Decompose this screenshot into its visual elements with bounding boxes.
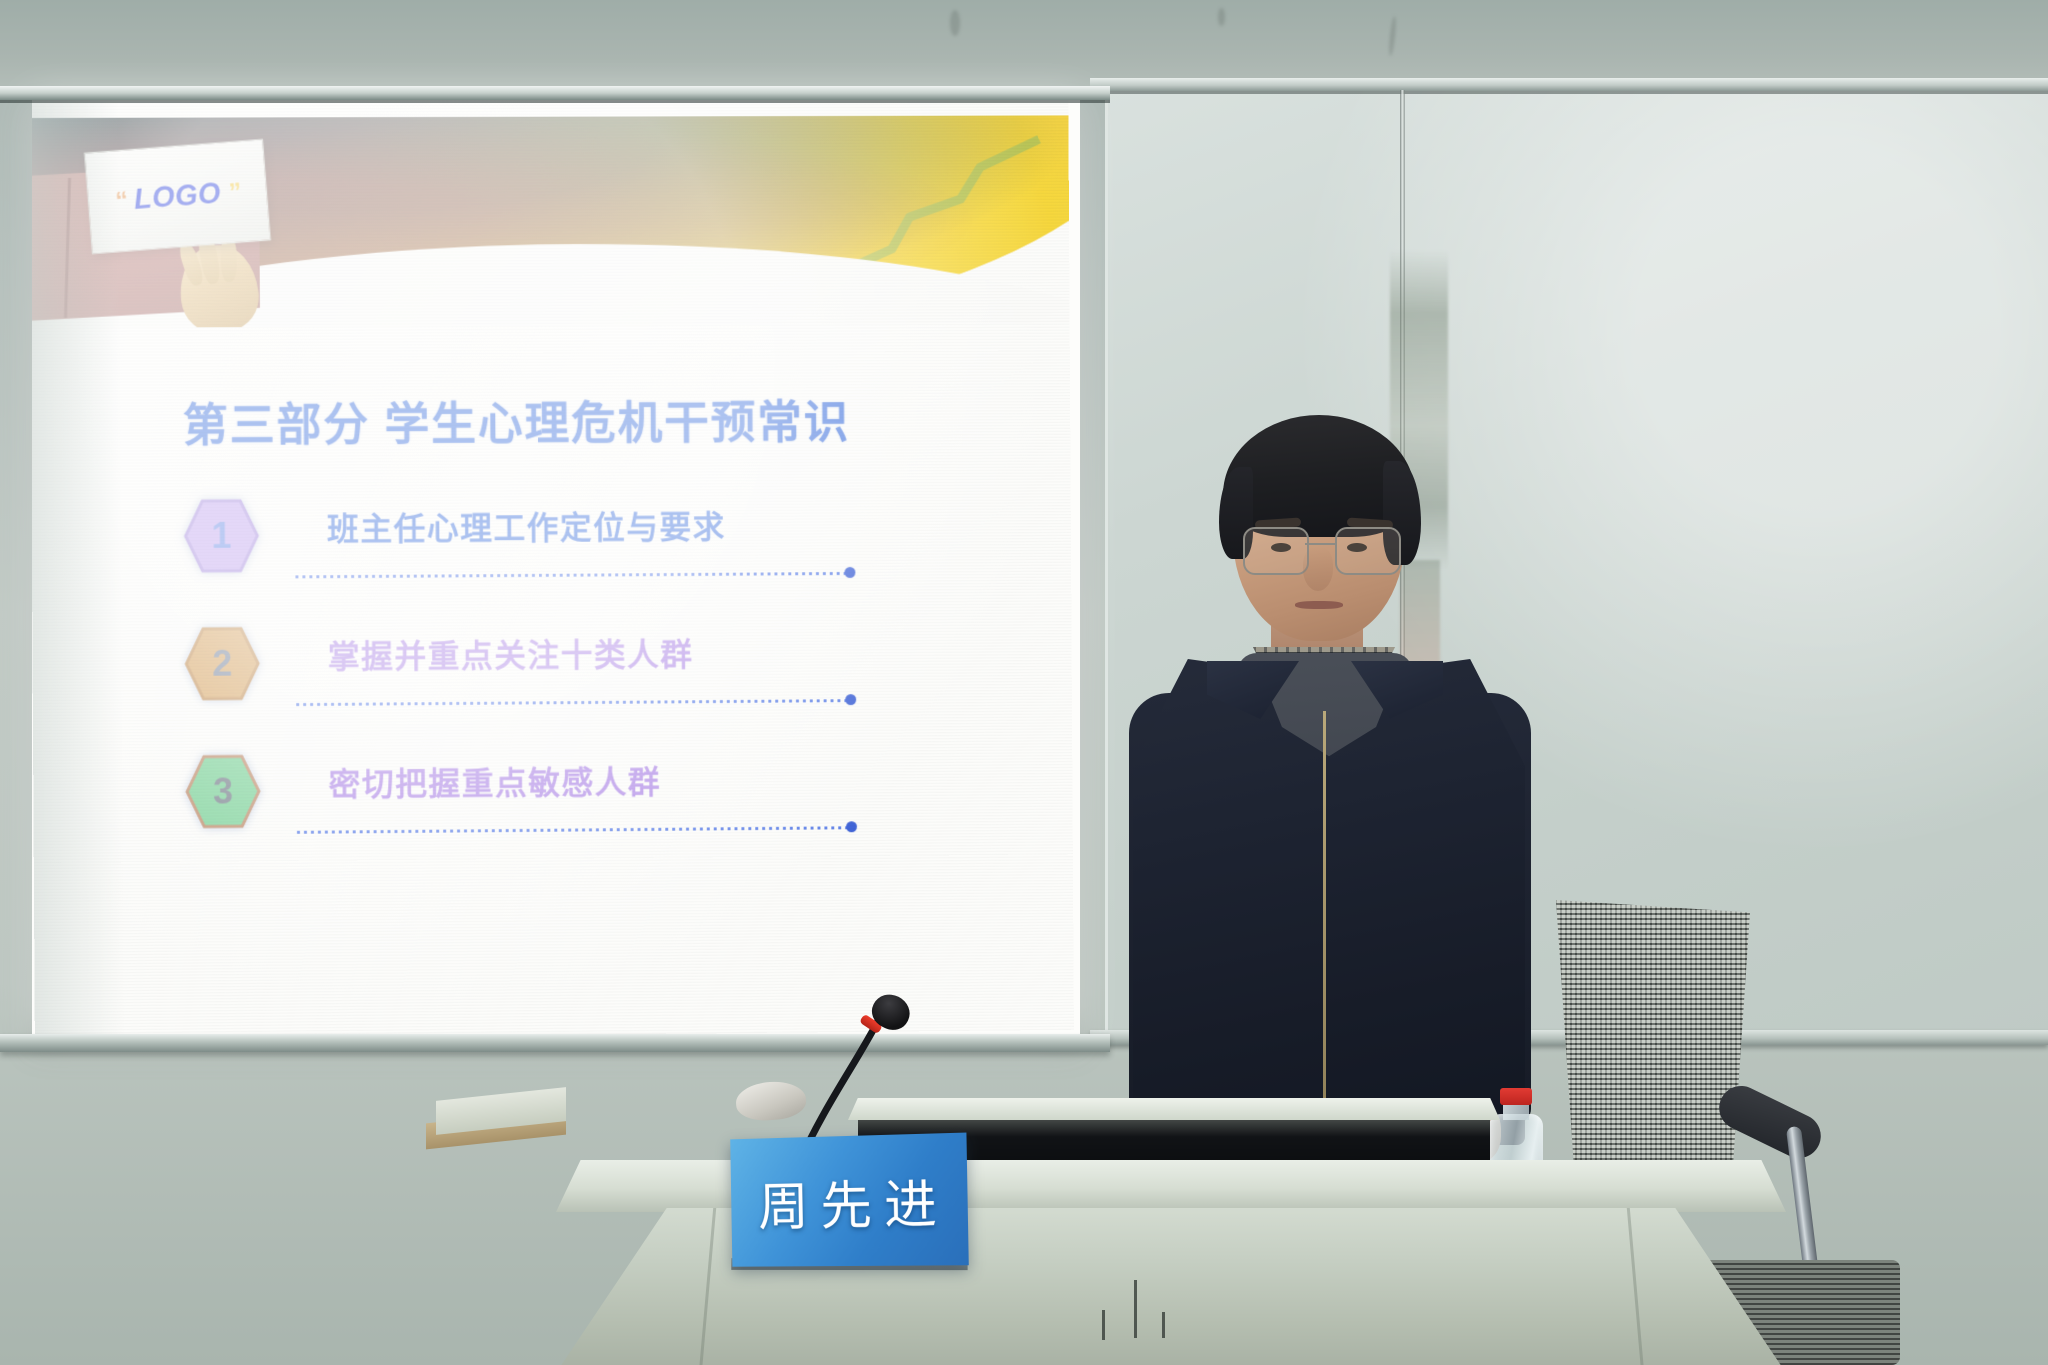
agenda-number-2: 2 <box>184 625 260 703</box>
agenda-dot-terminator-3 <box>846 821 857 832</box>
agenda-item-3: 3 密切把握重点敏感人群 <box>185 741 998 875</box>
quote-open-icon: “ <box>115 191 127 212</box>
wall-scuff <box>950 10 960 36</box>
lectern-vent-slot <box>1134 1280 1137 1338</box>
agenda-number-1: 1 <box>183 497 259 575</box>
lectern-vent-slot <box>1102 1310 1105 1340</box>
agenda-dotted-rule-1 <box>293 571 848 579</box>
nose <box>1303 547 1333 591</box>
hair <box>1223 415 1415 537</box>
slide-banner: “ LOGO ” <box>32 115 1070 328</box>
mouth <box>1295 601 1343 609</box>
slide-title: 第三部分 学生心理危机干预常识 <box>183 386 976 455</box>
lens-left <box>1243 527 1309 575</box>
agenda-label-3: 密切把握重点敏感人群 <box>328 757 661 805</box>
agenda-dotted-rule-2 <box>294 698 849 707</box>
glasses-bridge <box>1305 543 1335 545</box>
agenda-dotted-rule-3 <box>295 825 850 835</box>
lens-right <box>1335 527 1401 575</box>
jacket-zipper <box>1323 711 1326 1131</box>
logo-placard: “ LOGO ” <box>84 139 271 254</box>
wall-scuff <box>1218 8 1225 26</box>
agenda-item-2: 2 掌握并重点关注十类人群 <box>184 614 997 747</box>
agenda-label-2: 掌握并重点关注十类人群 <box>328 630 694 678</box>
agenda-dot-terminator-2 <box>845 694 856 705</box>
agenda-item-1: 1 班主任心理工作定位与要求 <box>183 487 996 619</box>
agenda-dot-terminator-1 <box>845 567 856 578</box>
lecture-hall-photo: “ LOGO ” 第三部分 学生心理危机干预常识 1 班主任心理工作定位与要求 <box>0 0 2048 1365</box>
projection-screen: “ LOGO ” 第三部分 学生心理危机干预常识 1 班主任心理工作定位与要求 <box>32 100 1080 1040</box>
agenda-number-3: 3 <box>185 752 261 830</box>
lectern-vent-slot <box>1162 1312 1165 1338</box>
slide-agenda-list: 1 班主任心理工作定位与要求 2 掌握并重点关注十类人群 <box>183 487 998 875</box>
logo-label: LOGO <box>133 177 223 217</box>
agenda-label-1: 班主任心理工作定位与要求 <box>327 502 726 550</box>
nameplate: 周先进 <box>730 1133 969 1267</box>
presenter <box>1095 415 1565 1175</box>
nameplate-text: 周先进 <box>748 1161 950 1240</box>
whiteboard-top-trim <box>1090 78 2048 91</box>
armrest-pad <box>1712 1079 1828 1166</box>
bottle-cap <box>1500 1088 1532 1105</box>
quote-close-icon: ” <box>228 182 240 203</box>
screen-top-trim <box>0 86 1110 100</box>
